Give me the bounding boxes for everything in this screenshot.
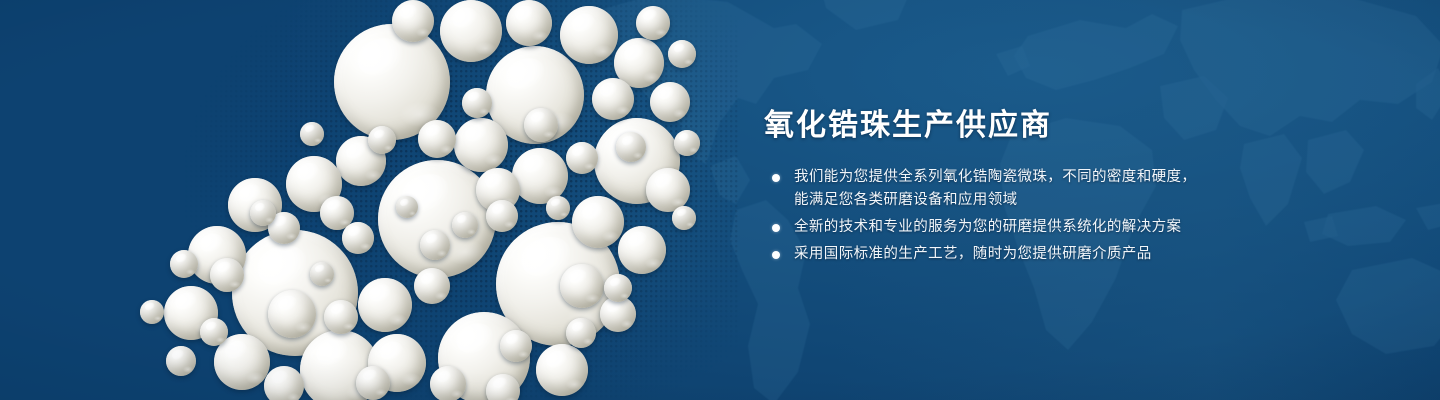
hero-banner: 氧化锆珠生产供应商 我们能为您提供全系列氧化锆陶瓷微珠，不同的密度和硬度， 能满… bbox=[0, 0, 1440, 400]
background-vignette bbox=[0, 0, 1440, 400]
